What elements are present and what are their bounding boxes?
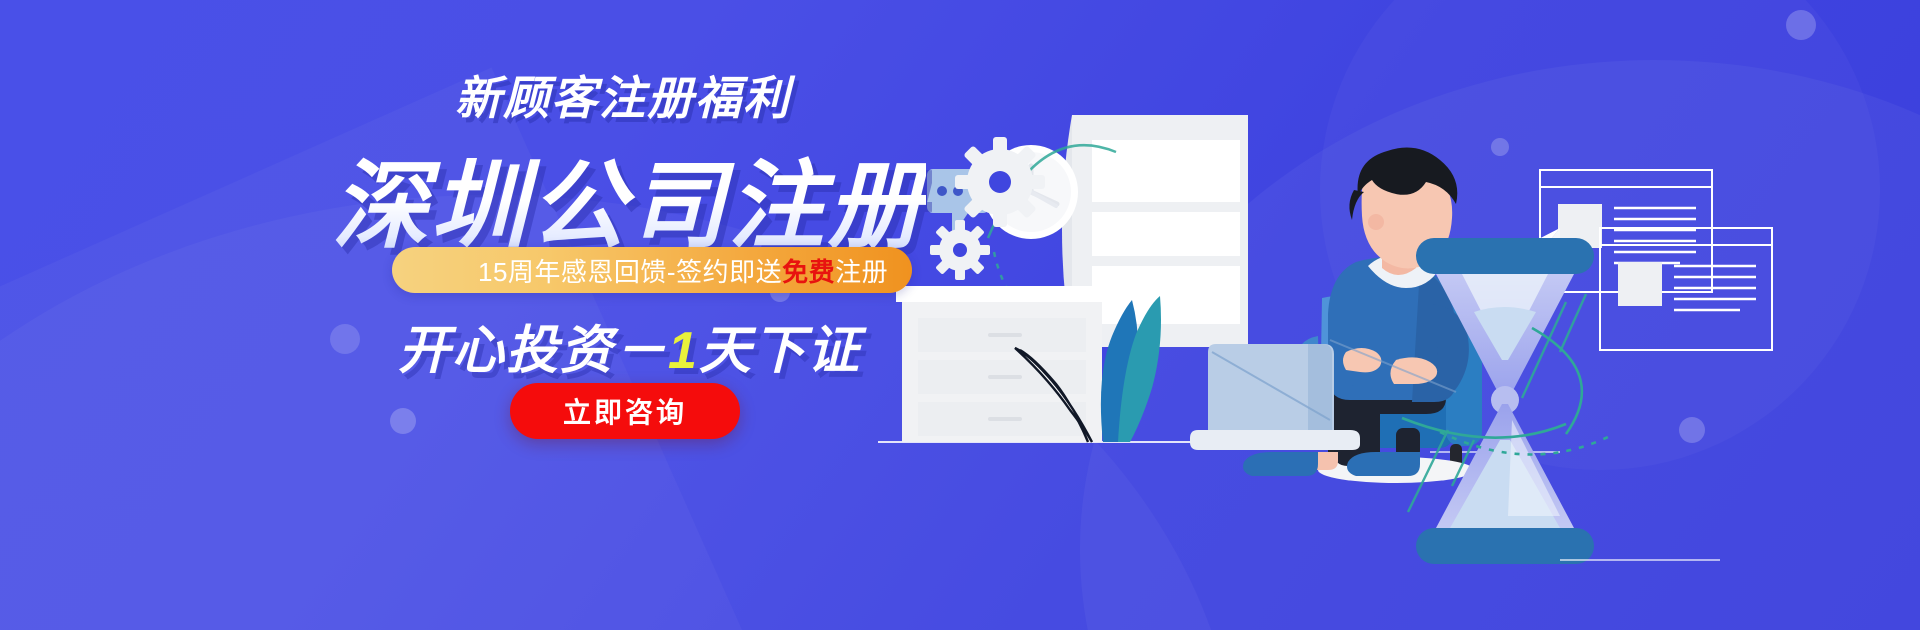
promo-pill-text-after: 注册 [835, 252, 888, 289]
subline-prefix: 开心投资－ [398, 322, 668, 380]
promo-pill: 15周年感恩回馈-签约即送 免费 注册 [392, 247, 912, 293]
banner-copy: 新顾客注册福利 深圳公司注册 15周年感恩回馈-签约即送 免费 注册 开心投资－… [0, 0, 960, 630]
consult-now-button-label: 立即咨询 [563, 391, 687, 431]
promo-banner: 新顾客注册福利 深圳公司注册 15周年感恩回馈-签约即送 免费 注册 开心投资－… [0, 0, 1920, 630]
hero-illustration [860, 0, 1920, 630]
subline-number: 1 [668, 322, 699, 380]
promo-pill-highlight: 免费 [782, 252, 835, 289]
promo-pill-text-before: 15周年感恩回馈-签约即送 [478, 252, 782, 289]
banner-headline: 新顾客注册福利 [455, 62, 791, 128]
consult-now-button[interactable]: 立即咨询 [510, 383, 740, 439]
subline-suffix: 天下证 [699, 322, 861, 380]
banner-subline: 开心投资－1天下证 [398, 308, 861, 383]
document-card [1600, 228, 1772, 350]
